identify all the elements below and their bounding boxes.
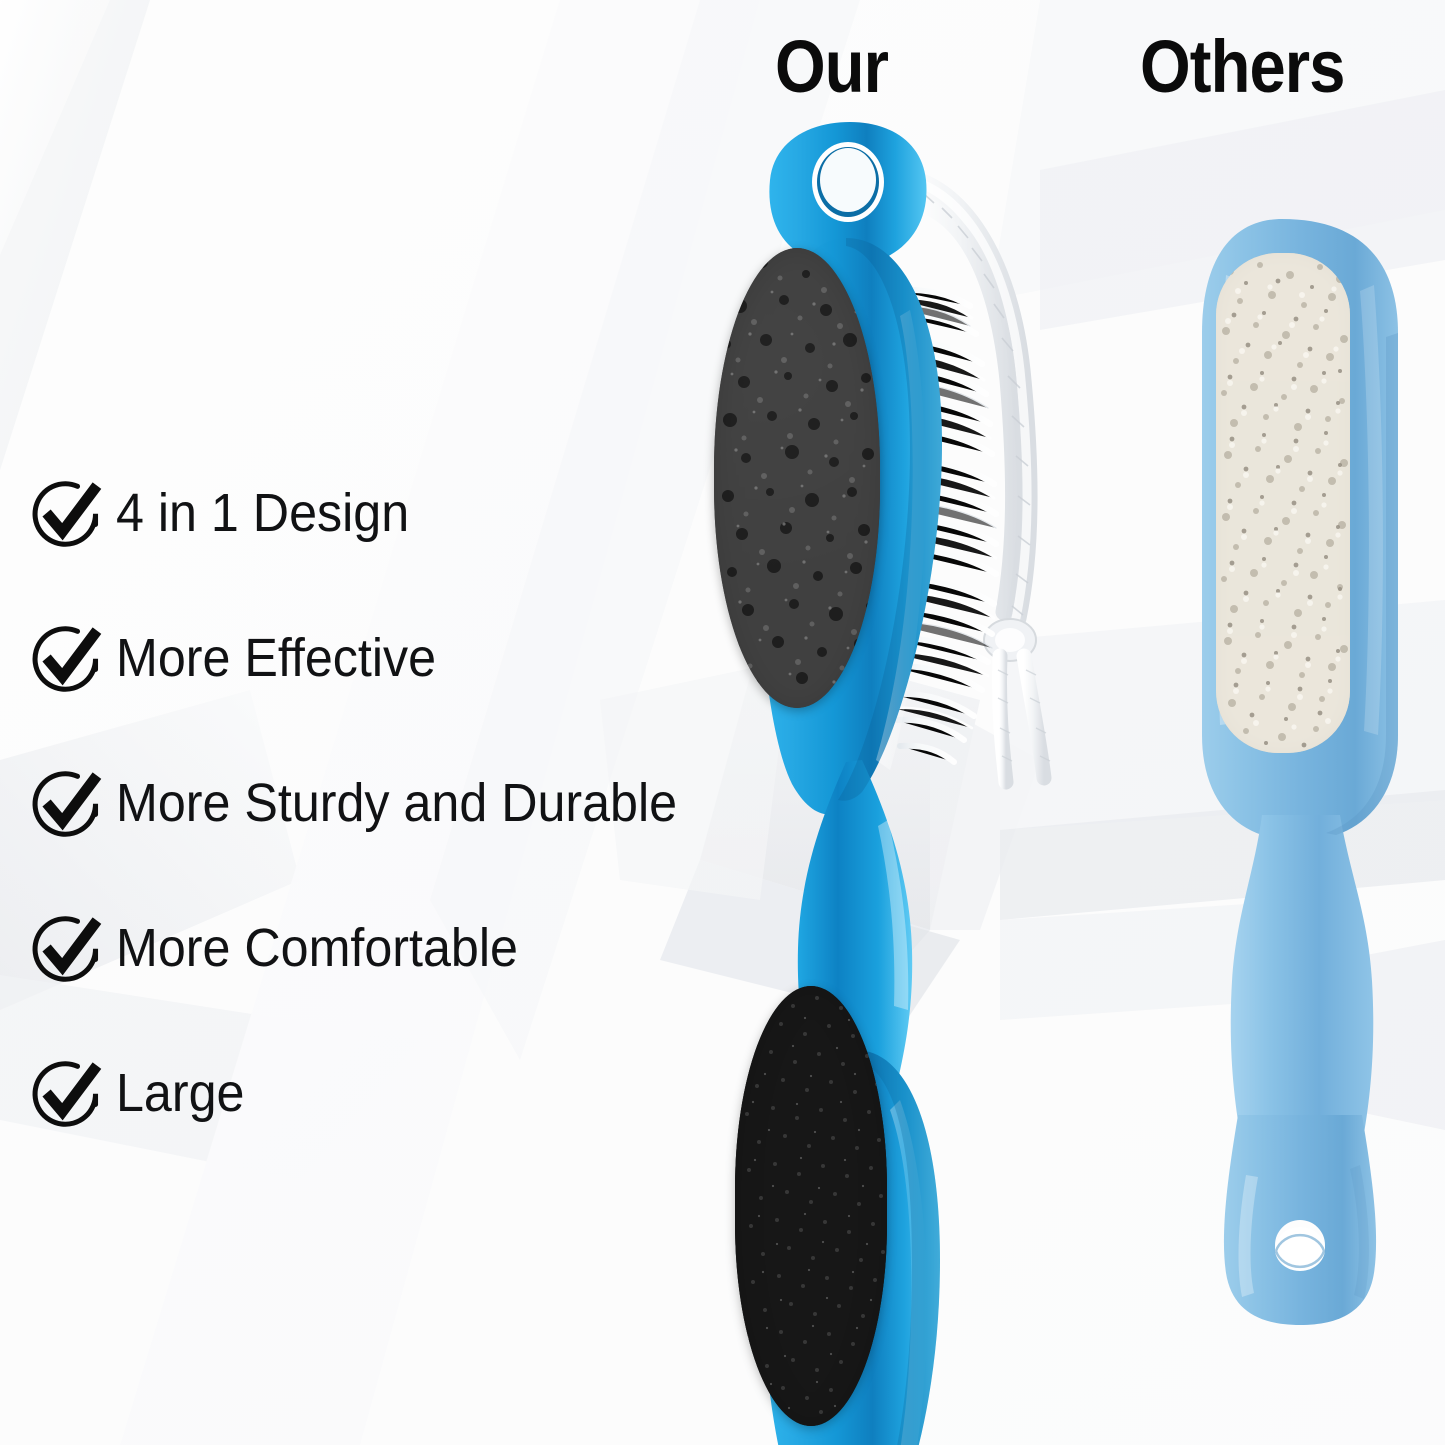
feature-label: More Sturdy and Durable	[116, 772, 677, 834]
heading-our: Our	[775, 30, 888, 104]
feature-label: More Comfortable	[116, 917, 518, 979]
feature-label: Large	[116, 1062, 244, 1124]
check-circle-icon	[30, 1057, 102, 1129]
check-circle-icon	[30, 477, 102, 549]
product-comparison-image: Our Others 4 in 1 Design More Effective	[0, 0, 1445, 1445]
check-circle-icon	[30, 912, 102, 984]
black-emery-pad	[735, 986, 887, 1426]
heading-others: Others	[1140, 30, 1345, 104]
dark-pumice-stone	[714, 248, 880, 708]
product-others	[1150, 215, 1445, 1325]
white-pumice-stone	[1216, 253, 1350, 753]
feature-label: 4 in 1 Design	[116, 482, 409, 544]
check-circle-icon	[30, 767, 102, 839]
feature-label: More Effective	[116, 627, 436, 689]
check-circle-icon	[30, 622, 102, 694]
product-ours	[690, 120, 1020, 1445]
